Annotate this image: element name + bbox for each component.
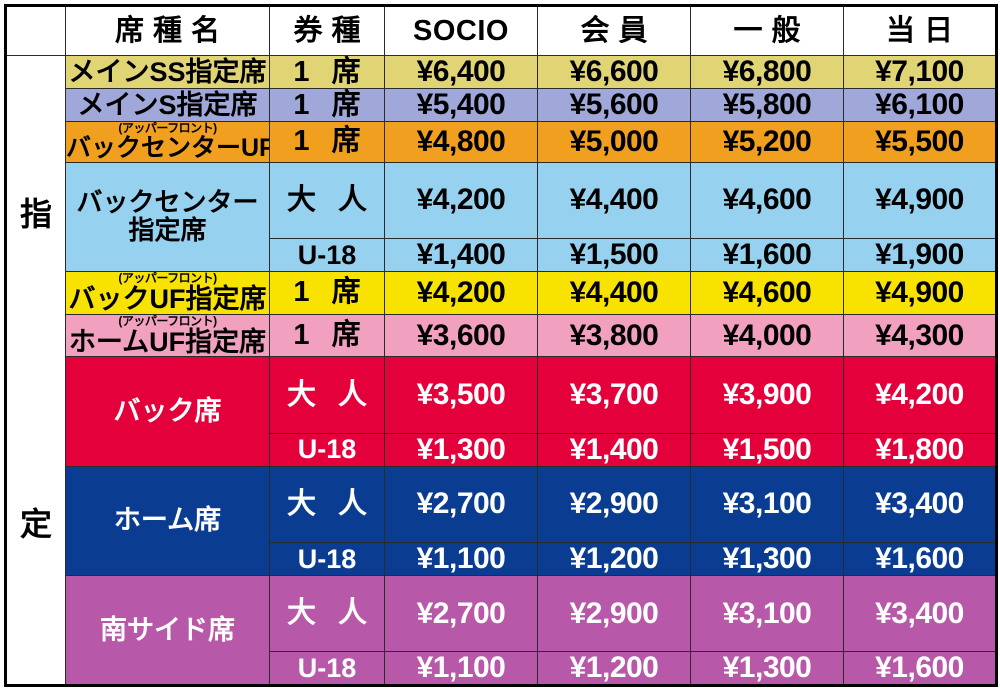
price-general-back-adult: ¥3,900	[691, 357, 844, 433]
price-socio-home-adult: ¥2,700	[385, 466, 538, 542]
price-member-main-ss: ¥6,600	[538, 56, 691, 89]
price-socio-back-uf: ¥4,200	[385, 271, 538, 314]
table-row: メインS指定席 1 席 ¥5,400 ¥5,600 ¥5,800 ¥6,100	[6, 88, 997, 121]
table-row: ホーム席 大 人 ¥2,700 ¥2,900 ¥3,100 ¥3,400	[6, 466, 997, 542]
price-member-home-u18: ¥1,200	[538, 542, 691, 575]
table-header-row: 席種名 券種 SOCIO 会員 一般 当日	[6, 6, 997, 56]
ruby-upper-front: (アッパーフロント)	[66, 122, 269, 134]
price-member-main-s: ¥5,600	[538, 88, 691, 121]
price-same-day-back-u18: ¥1,800	[844, 433, 997, 466]
table-row: (アッパーフロント) ホームUF指定席 1 席 ¥3,600 ¥3,800 ¥4…	[6, 314, 997, 357]
price-socio-south-side-u18: ¥1,100	[385, 651, 538, 685]
ticket-type-back-center-uf: 1 席	[270, 121, 385, 162]
seat-name-back-center-uf: (アッパーフロント) バックセンターUF指定席	[66, 121, 270, 162]
price-socio-back-u18: ¥1,300	[385, 433, 538, 466]
seat-name-text: バックセンターUF指定席	[66, 134, 270, 162]
category-cell-shitei: 指 定	[6, 56, 66, 686]
price-member-back-center-uf: ¥5,000	[538, 121, 691, 162]
price-member-back-center-u18: ¥1,500	[538, 238, 691, 271]
seat-name-line-1: バックセンター	[76, 187, 258, 217]
header-general: 一般	[691, 6, 844, 56]
category-label-line2: 定	[20, 508, 52, 542]
ruby-upper-front: (アッパーフロント)	[66, 272, 269, 284]
ticket-type-main-s: 1 席	[270, 88, 385, 121]
price-socio-main-s: ¥5,400	[385, 88, 538, 121]
ticket-type-back-uf: 1 席	[270, 271, 385, 314]
ruby-upper-front: (アッパーフロント)	[66, 315, 269, 327]
price-socio-home-uf: ¥3,600	[385, 314, 538, 357]
price-general-main-s: ¥5,800	[691, 88, 844, 121]
table-row: バックセンター 指定席 大 人 ¥4,200 ¥4,400 ¥4,600 ¥4,…	[6, 162, 997, 238]
price-socio-home-u18: ¥1,100	[385, 542, 538, 575]
price-member-back-u18: ¥1,400	[538, 433, 691, 466]
header-ticket-type: 券種	[270, 6, 385, 56]
seat-price-table: 席種名 券種 SOCIO 会員 一般 当日 指 定 メインSS指定席 1 席 ¥…	[4, 4, 998, 687]
header-socio: SOCIO	[385, 6, 538, 56]
price-same-day-back-center-uf: ¥5,500	[844, 121, 997, 162]
price-general-home-uf: ¥4,000	[691, 314, 844, 357]
price-member-home-uf: ¥3,800	[538, 314, 691, 357]
price-general-home-u18: ¥1,300	[691, 542, 844, 575]
table-row: バック席 大 人 ¥3,500 ¥3,700 ¥3,900 ¥4,200	[6, 357, 997, 433]
ticket-type-south-side-u18: U-18	[270, 651, 385, 685]
ticket-type-back-adult: 大 人	[270, 357, 385, 433]
price-general-back-center-u18: ¥1,600	[691, 238, 844, 271]
price-same-day-back-uf: ¥4,900	[844, 271, 997, 314]
seat-name-text: ホームUF指定席	[69, 327, 266, 357]
price-socio-back-center-uf: ¥4,800	[385, 121, 538, 162]
price-same-day-south-side-adult: ¥3,400	[844, 575, 997, 651]
seat-name-main-s: メインS指定席	[66, 88, 270, 121]
table-row: (アッパーフロント) バックセンターUF指定席 1 席 ¥4,800 ¥5,00…	[6, 121, 997, 162]
price-member-back-uf: ¥4,400	[538, 271, 691, 314]
header-seat-name: 席種名	[66, 6, 270, 56]
price-same-day-back-center-u18: ¥1,900	[844, 238, 997, 271]
price-general-south-side-u18: ¥1,300	[691, 651, 844, 685]
seat-name-back-center: バックセンター 指定席	[66, 162, 270, 271]
price-member-south-side-adult: ¥2,900	[538, 575, 691, 651]
price-socio-south-side-adult: ¥2,700	[385, 575, 538, 651]
seat-name-home: ホーム席	[66, 466, 270, 575]
price-general-back-center-adult: ¥4,600	[691, 162, 844, 238]
price-socio-back-adult: ¥3,500	[385, 357, 538, 433]
seat-name-back: バック席	[66, 357, 270, 466]
ticket-type-back-u18: U-18	[270, 433, 385, 466]
price-socio-main-ss: ¥6,400	[385, 56, 538, 89]
table-row: (アッパーフロント) バックUF指定席 1 席 ¥4,200 ¥4,400 ¥4…	[6, 271, 997, 314]
price-general-home-adult: ¥3,100	[691, 466, 844, 542]
price-same-day-home-u18: ¥1,600	[844, 542, 997, 575]
price-general-back-center-uf: ¥5,200	[691, 121, 844, 162]
header-same-day: 当日	[844, 6, 997, 56]
price-same-day-main-ss: ¥7,100	[844, 56, 997, 89]
price-member-south-side-u18: ¥1,200	[538, 651, 691, 685]
price-socio-back-center-adult: ¥4,200	[385, 162, 538, 238]
price-same-day-south-side-u18: ¥1,600	[844, 651, 997, 685]
ticket-type-home-adult: 大 人	[270, 466, 385, 542]
ticket-type-home-uf: 1 席	[270, 314, 385, 357]
ticket-type-back-center-u18: U-18	[270, 238, 385, 271]
seat-name-main-ss: メインSS指定席	[66, 56, 270, 89]
seat-name-home-uf: (アッパーフロント) ホームUF指定席	[66, 314, 270, 357]
ticket-type-back-center-adult: 大 人	[270, 162, 385, 238]
price-member-home-adult: ¥2,900	[538, 466, 691, 542]
seat-name-text: バックUF指定席	[69, 284, 267, 314]
ticket-type-main-ss: 1 席	[270, 56, 385, 89]
price-general-south-side-adult: ¥3,100	[691, 575, 844, 651]
price-member-back-center-adult: ¥4,400	[538, 162, 691, 238]
seat-name-line-2: 指定席	[128, 215, 206, 245]
category-label-line1: 指	[20, 198, 52, 232]
ticket-type-south-side-adult: 大 人	[270, 575, 385, 651]
price-member-back-adult: ¥3,700	[538, 357, 691, 433]
price-general-back-u18: ¥1,500	[691, 433, 844, 466]
price-socio-back-center-u18: ¥1,400	[385, 238, 538, 271]
ticket-type-home-u18: U-18	[270, 542, 385, 575]
header-category-blank	[6, 6, 66, 56]
table-row: 南サイド席 大 人 ¥2,700 ¥2,900 ¥3,100 ¥3,400	[6, 575, 997, 651]
price-same-day-home-adult: ¥3,400	[844, 466, 997, 542]
header-member: 会員	[538, 6, 691, 56]
price-same-day-back-center-adult: ¥4,900	[844, 162, 997, 238]
price-general-main-ss: ¥6,800	[691, 56, 844, 89]
price-general-back-uf: ¥4,600	[691, 271, 844, 314]
price-same-day-home-uf: ¥4,300	[844, 314, 997, 357]
table-row: 指 定 メインSS指定席 1 席 ¥6,400 ¥6,600 ¥6,800 ¥7…	[6, 56, 997, 89]
seat-name-south-side: 南サイド席	[66, 575, 270, 685]
seat-name-back-uf: (アッパーフロント) バックUF指定席	[66, 271, 270, 314]
price-same-day-main-s: ¥6,100	[844, 88, 997, 121]
price-same-day-back-adult: ¥4,200	[844, 357, 997, 433]
